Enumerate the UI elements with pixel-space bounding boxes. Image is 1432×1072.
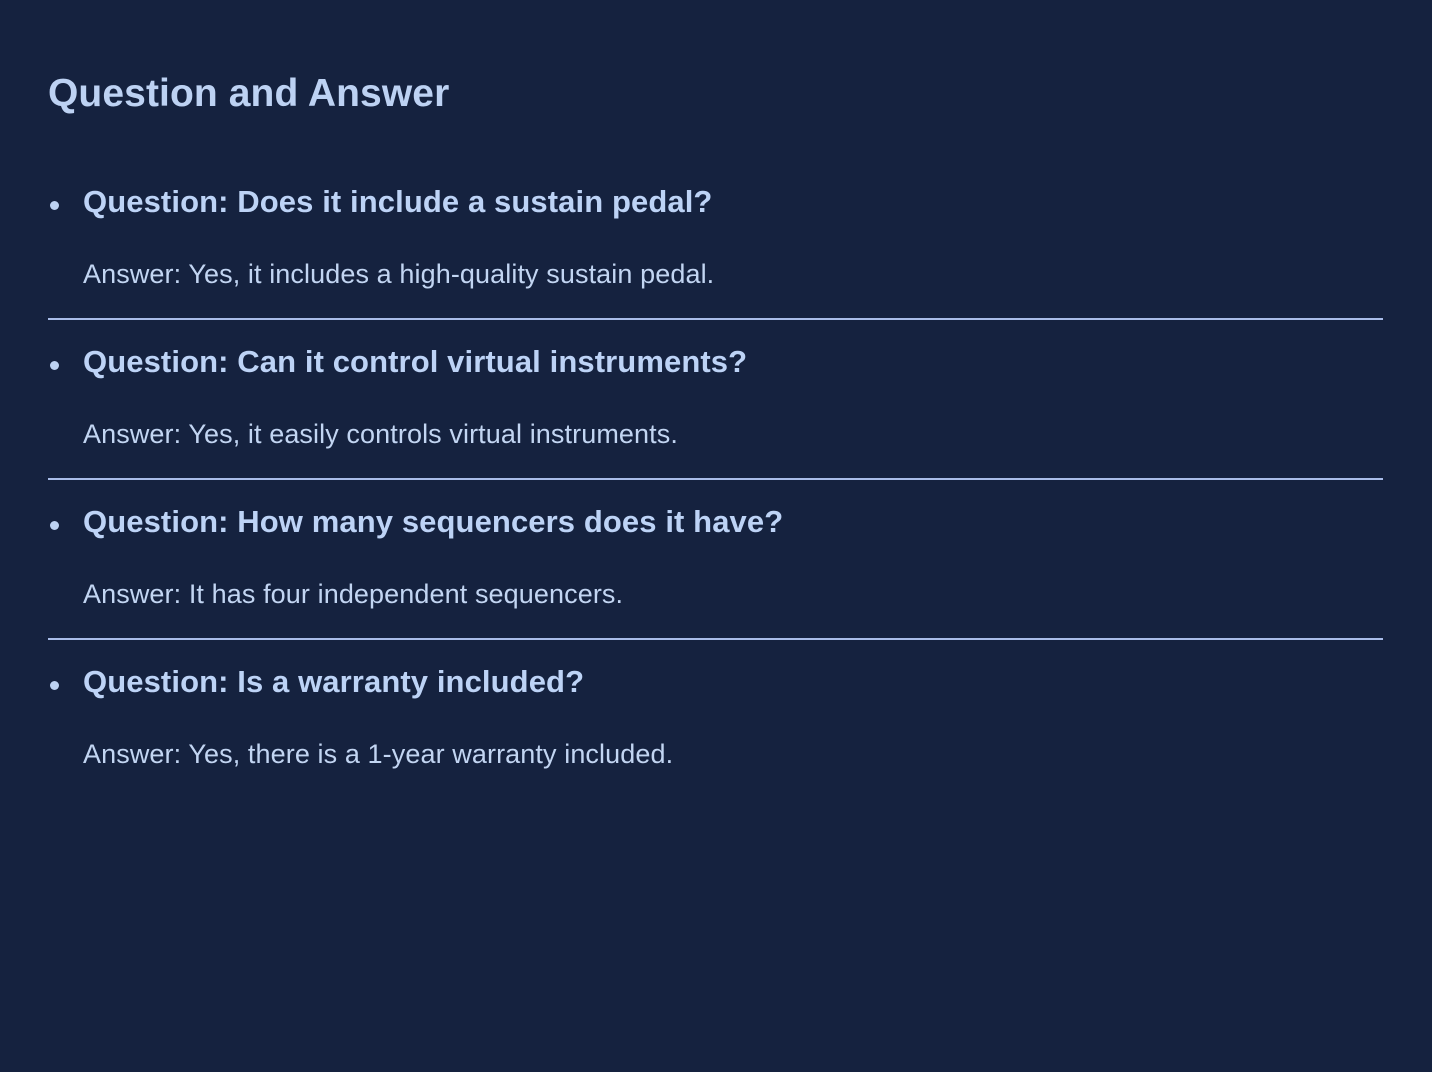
qa-item: Question: Is a warranty included? Answer…: [0, 640, 1432, 772]
qa-item: Question: Does it include a sustain peda…: [0, 160, 1432, 320]
page-title: Question and Answer: [48, 73, 449, 116]
qa-answer-label: Answer: It has four independent sequence…: [0, 543, 1432, 612]
qa-list: Question: Does it include a sustain peda…: [0, 160, 1432, 772]
qa-question-row: Question: How many sequencers does it ha…: [0, 480, 1432, 543]
qa-answer-label: Answer: Yes, it includes a high-quality …: [0, 223, 1432, 292]
bullet-icon: [50, 201, 59, 210]
qa-answer-label: Answer: Yes, it easily controls virtual …: [0, 383, 1432, 452]
bullet-icon: [50, 521, 59, 530]
qa-question-label: Question: How many sequencers does it ha…: [83, 502, 1432, 543]
qa-page: Question and Answer Question: Does it in…: [0, 0, 1432, 1072]
qa-question-label: Question: Is a warranty included?: [83, 662, 1432, 703]
bullet-icon: [50, 361, 59, 370]
qa-item: Question: Can it control virtual instrum…: [0, 320, 1432, 480]
qa-question-label: Question: Does it include a sustain peda…: [83, 182, 1432, 223]
qa-answer-label: Answer: Yes, there is a 1-year warranty …: [0, 703, 1432, 772]
qa-question-row: Question: Can it control virtual instrum…: [0, 320, 1432, 383]
qa-question-label: Question: Can it control virtual instrum…: [83, 342, 1432, 383]
qa-question-row: Question: Is a warranty included?: [0, 640, 1432, 703]
qa-item: Question: How many sequencers does it ha…: [0, 480, 1432, 640]
bullet-icon: [50, 681, 59, 690]
qa-question-row: Question: Does it include a sustain peda…: [0, 160, 1432, 223]
